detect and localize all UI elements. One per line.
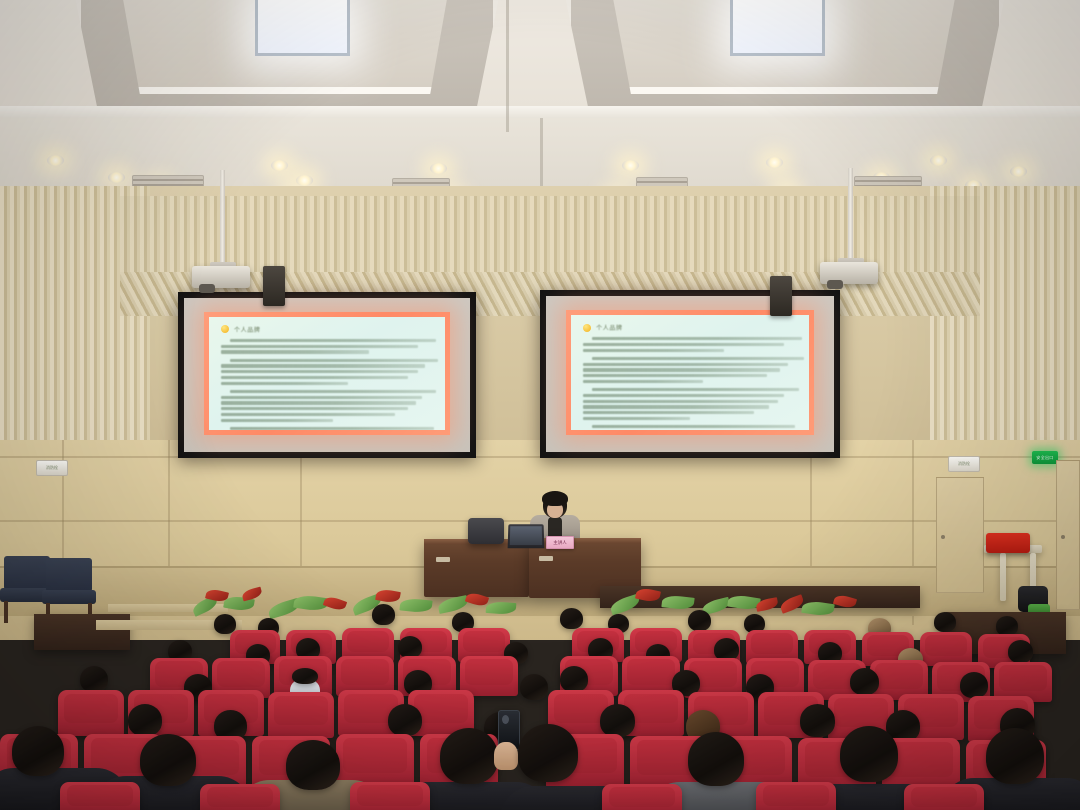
projector-pole [848, 168, 853, 264]
ceiling-projector [192, 266, 250, 288]
attendee [518, 724, 578, 782]
table-tag [539, 556, 553, 561]
recessed-downlight [1010, 166, 1027, 177]
recessed-downlight [430, 163, 447, 174]
hand [494, 742, 518, 770]
recessed-downlight [296, 175, 313, 186]
presenter-nameplate: 主讲人 [546, 536, 574, 549]
slide-paragraph [583, 337, 797, 352]
attendee [140, 734, 196, 786]
side-table-leg [1000, 553, 1006, 601]
ceiling-projector [820, 262, 878, 284]
attendee [560, 608, 583, 629]
screen-surface: 个人品牌 [546, 296, 834, 452]
ceiling-seam [506, 0, 509, 132]
attendee [960, 672, 988, 698]
audience-seat[interactable] [58, 690, 124, 736]
slide-title-text: 个人品牌 [596, 323, 622, 332]
table-tag [436, 557, 450, 562]
attendee [850, 668, 879, 695]
attendee [12, 726, 64, 776]
attendee [840, 726, 898, 782]
attendee [286, 740, 340, 790]
side-door[interactable] [1056, 460, 1080, 610]
attendee [388, 704, 422, 736]
audience-seat[interactable] [602, 784, 682, 810]
exit-sign-label: 安全出口 [1036, 455, 1053, 461]
skylight-panel-right [730, 0, 825, 56]
attendee [688, 732, 744, 786]
wall-speaker [770, 276, 792, 316]
attendee [600, 704, 635, 737]
slide-right: 个人品牌 [566, 310, 814, 435]
attendee [372, 604, 395, 625]
slide-title-row: 个人品牌 [583, 323, 797, 332]
slide-content: 个人品牌 [209, 317, 445, 430]
wall-plate-label: 消防栓 [958, 461, 970, 467]
attendee [800, 704, 835, 737]
laptop [508, 524, 545, 548]
attendee [688, 610, 711, 631]
wall-plate-label: 消防栓 [46, 465, 58, 471]
presenter-hair [542, 491, 568, 506]
slide-paragraph [583, 357, 797, 383]
screen-surface: 个人品牌 [184, 298, 470, 452]
projector-pole [220, 170, 225, 268]
slide-content: 个人品牌 [571, 315, 809, 430]
slide-paragraph [583, 388, 797, 420]
audience-seat[interactable] [756, 782, 836, 810]
red-basket[interactable] [986, 533, 1030, 553]
audience-seat[interactable] [350, 782, 430, 810]
left-projection-screen: 个人品牌 [178, 292, 476, 458]
attendee [520, 674, 548, 700]
ceiling-seam [540, 118, 543, 186]
audience-seat[interactable] [60, 782, 140, 810]
slide-left: 个人品牌 [204, 312, 450, 435]
recessed-downlight [271, 160, 288, 171]
audience-area [0, 600, 1080, 810]
slide-paragraph [221, 339, 433, 354]
auditorium-photo: 消防栓 消防栓 安全出口 个人品牌 [0, 0, 1080, 810]
slide-paragraph [221, 359, 433, 385]
slide-title-text: 个人品牌 [234, 325, 260, 334]
side-door[interactable] [936, 477, 984, 593]
slide-title-row: 个人品牌 [221, 325, 433, 334]
stage-chair [468, 518, 504, 544]
attendee [986, 728, 1044, 784]
recessed-downlight [47, 155, 64, 166]
right-projection-screen: 个人品牌 [540, 290, 840, 458]
attendee [80, 666, 108, 692]
skylight-panel-left [255, 0, 350, 56]
bullet-dot-icon [221, 325, 229, 333]
ceiling [0, 0, 1080, 200]
recessed-downlight [622, 160, 639, 171]
attendee [560, 666, 588, 692]
chair-back-rest [46, 558, 92, 592]
wall-speaker [263, 266, 285, 306]
attendee [440, 728, 498, 784]
recessed-downlight [108, 172, 125, 183]
wall-fire-plate: 消防栓 [36, 460, 68, 476]
slide-paragraph [221, 390, 433, 422]
attendee [934, 612, 956, 632]
audience-seat[interactable] [268, 692, 334, 738]
slide-paragraph [583, 425, 797, 430]
wall-fire-plate: 消防栓 [948, 456, 980, 472]
attendee [1008, 640, 1033, 663]
attendee [996, 616, 1018, 636]
audience-seat[interactable] [904, 784, 984, 810]
attendee [398, 636, 422, 658]
audience-seat[interactable] [200, 784, 280, 810]
nameplate-text: 主讲人 [553, 540, 567, 546]
attendee [128, 704, 162, 736]
bullet-dot-icon [583, 324, 591, 332]
audience-seat[interactable] [920, 632, 972, 666]
slide-paragraph [221, 427, 433, 430]
recessed-downlight [766, 157, 783, 168]
attendee [292, 668, 318, 684]
exit-sign: 安全出口 [1032, 451, 1058, 464]
recessed-downlight [930, 155, 947, 166]
